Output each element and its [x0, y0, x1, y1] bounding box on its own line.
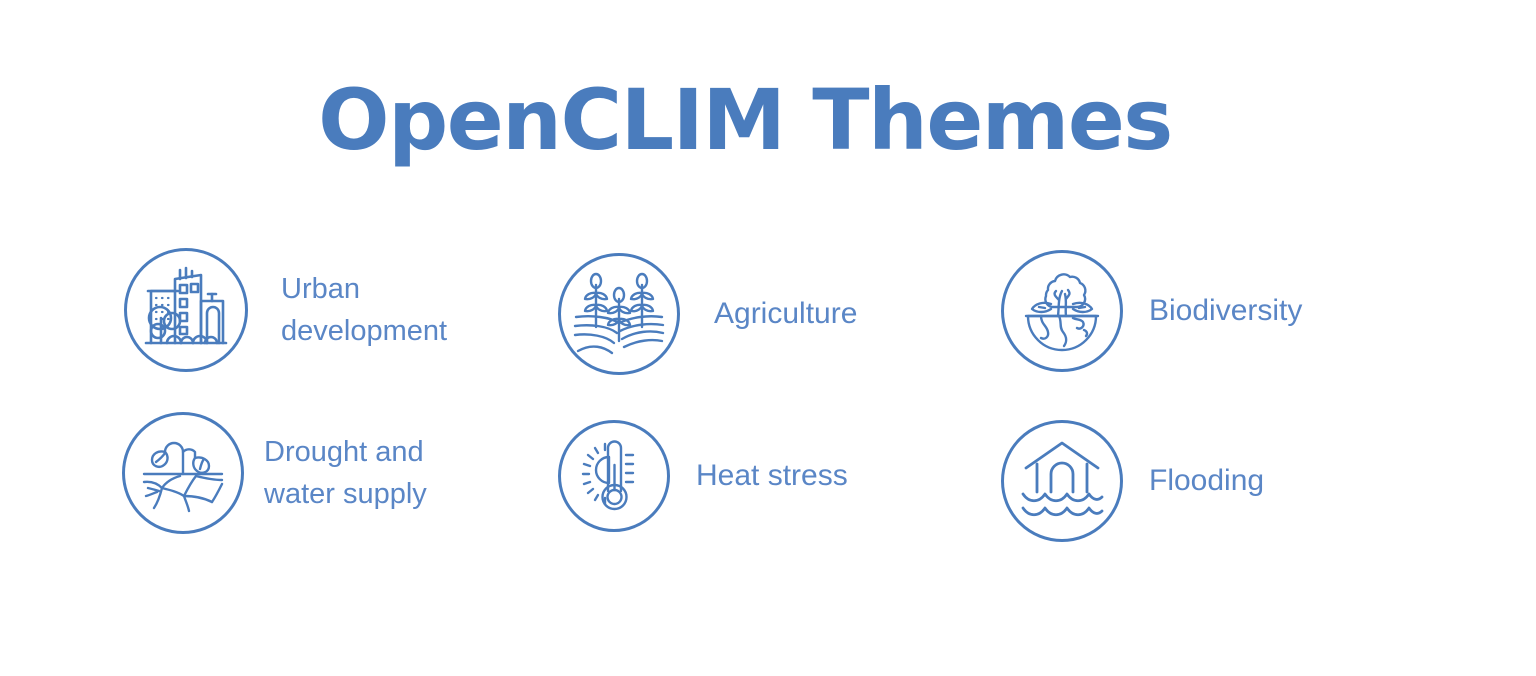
theme-item-drought-and-water-supply[interactable]: Drought and water supply [122, 412, 527, 534]
theme-item-heat-stress[interactable]: Heat stress [558, 420, 978, 532]
themes-row-2: Drought and water supply [0, 406, 1536, 576]
theme-label-agriculture: Agriculture [714, 292, 857, 336]
page-title: OpenCLIM Themes [0, 78, 1490, 162]
theme-label-heat-stress: Heat stress [696, 454, 848, 498]
thermometer-sun-icon [558, 420, 670, 532]
theme-item-flooding[interactable]: Flooding [1001, 420, 1401, 542]
wilting-plant-cracked-earth-icon [122, 412, 244, 534]
house-in-waves-icon [1001, 420, 1123, 542]
tree-on-globe-icon [1001, 250, 1123, 372]
theme-item-urban-development[interactable]: Urban development [124, 248, 529, 372]
theme-label-biodiversity: Biodiversity [1149, 289, 1302, 333]
themes-row-1: Urban development [0, 236, 1536, 406]
themes-grid: Urban development [0, 236, 1536, 576]
theme-label-urban-development: Urban development [281, 268, 447, 353]
city-buildings-trees-icon [124, 248, 248, 372]
theme-label-drought-and-water-supply: Drought and water supply [264, 431, 427, 516]
theme-label-flooding: Flooding [1149, 459, 1264, 503]
theme-item-agriculture[interactable]: Agriculture [558, 253, 978, 375]
theme-item-biodiversity[interactable]: Biodiversity [1001, 250, 1401, 372]
wheat-field-icon [558, 253, 680, 375]
